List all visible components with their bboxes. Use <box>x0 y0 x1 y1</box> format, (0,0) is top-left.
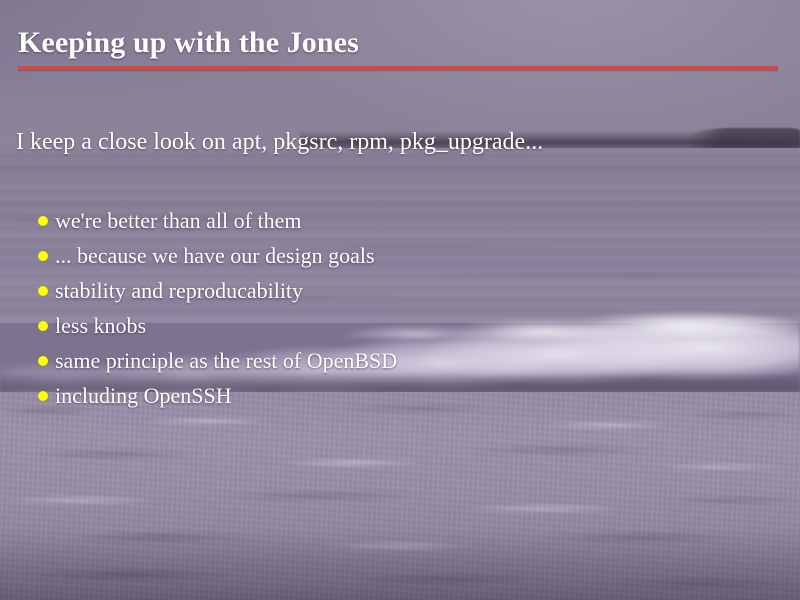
slide-title: Keeping up with the Jones <box>18 26 359 60</box>
bullet-dot-icon <box>38 356 48 366</box>
list-item: less knobs <box>36 308 397 343</box>
bullet-dot-icon <box>38 251 48 261</box>
list-item-label: stability and reproducability <box>55 278 303 303</box>
list-item-label: ... because we have our design goals <box>55 243 375 268</box>
presentation-slide: Keeping up with the Jones I keep a close… <box>0 0 800 600</box>
bullet-dot-icon <box>38 321 48 331</box>
list-item-label: including OpenSSH <box>55 383 232 408</box>
list-item-label: same principle as the rest of OpenBSD <box>55 348 397 373</box>
list-item: same principle as the rest of OpenBSD <box>36 343 397 378</box>
bullet-dot-icon <box>38 216 48 226</box>
slide-content: Keeping up with the Jones I keep a close… <box>0 0 800 600</box>
list-item: including OpenSSH <box>36 378 397 413</box>
list-item-label: less knobs <box>55 313 146 338</box>
list-item: we're better than all of them <box>36 203 397 238</box>
title-underline-rule <box>18 66 778 70</box>
list-item: stability and reproducability <box>36 273 397 308</box>
bullet-dot-icon <box>38 286 48 296</box>
slide-lead-text: I keep a close look on apt, pkgsrc, rpm,… <box>16 129 543 156</box>
list-item-label: we're better than all of them <box>55 208 301 233</box>
list-item: ... because we have our design goals <box>36 238 397 273</box>
bullet-dot-icon <box>38 391 48 401</box>
slide-bullet-list: we're better than all of them ... becaus… <box>36 203 397 413</box>
